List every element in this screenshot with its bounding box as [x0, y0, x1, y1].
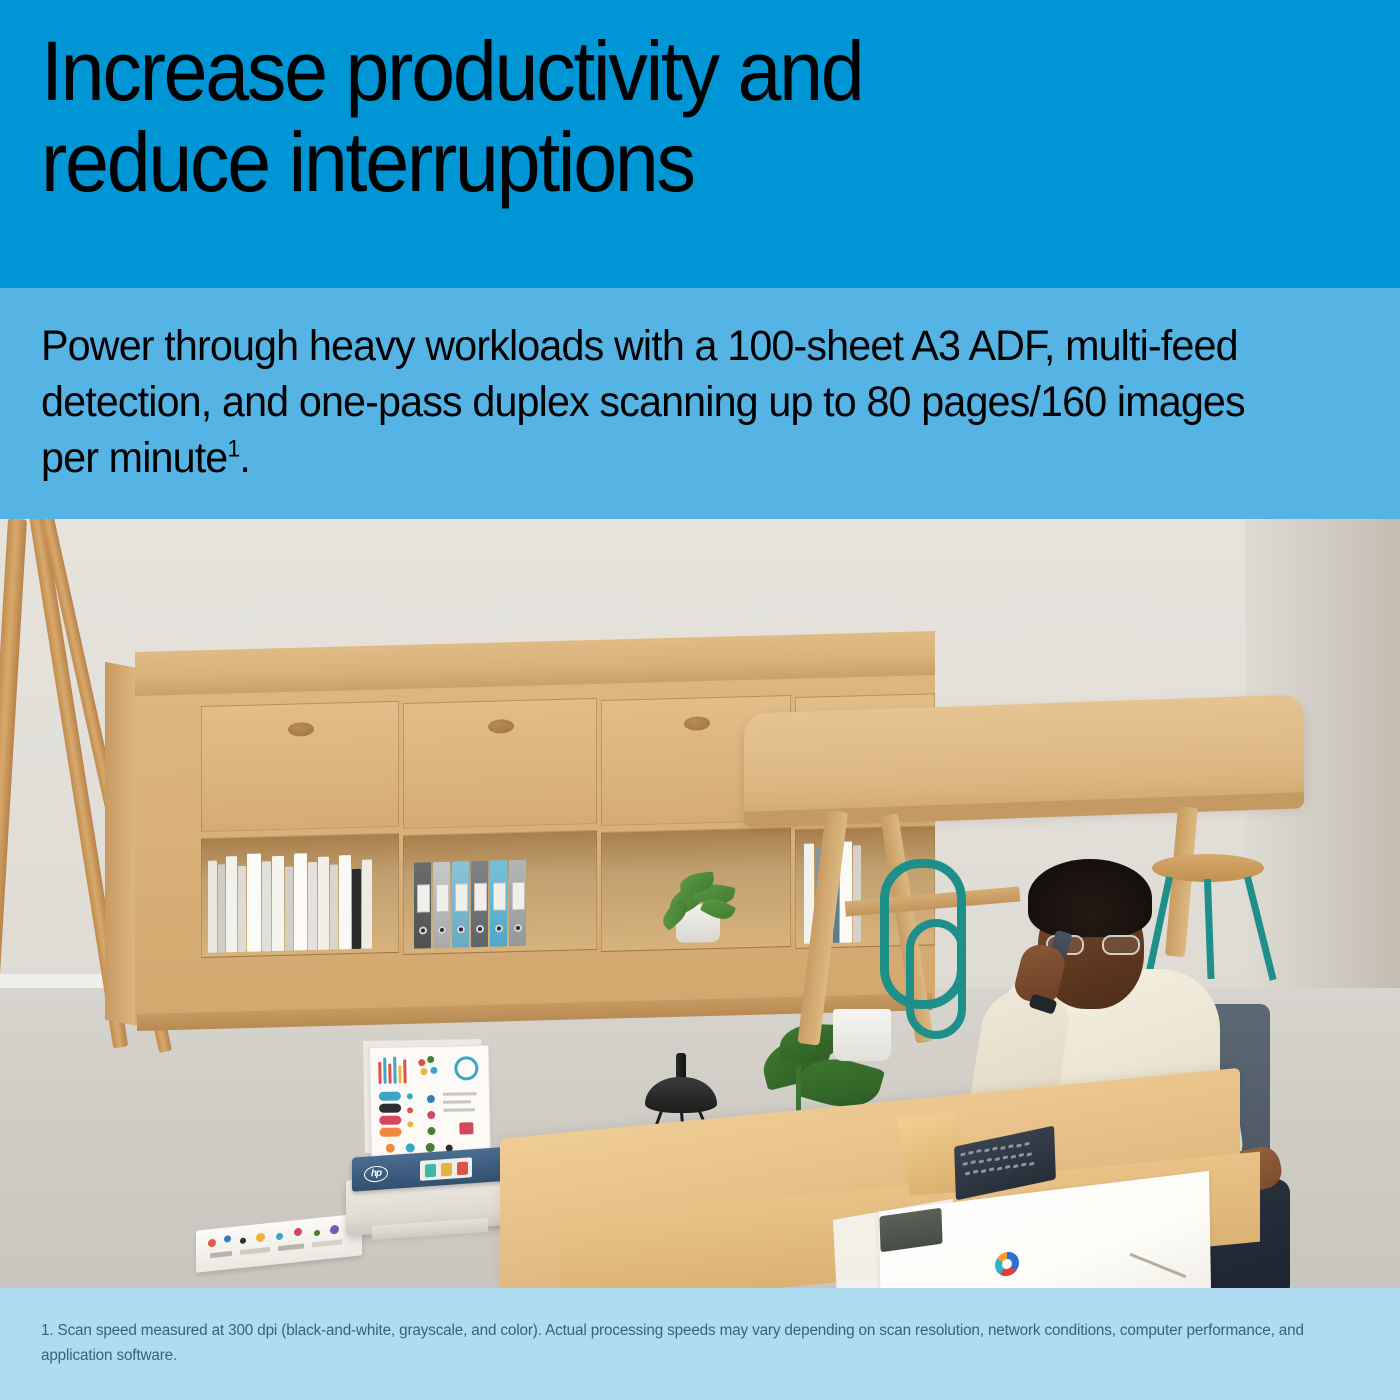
binder-ring-hole [438, 926, 446, 934]
credenza-drawer [201, 701, 399, 832]
book-spine-the-fashion [294, 853, 307, 950]
magazine-graphic [276, 1233, 283, 1241]
text-line [443, 1092, 477, 1096]
person-hair [1028, 859, 1152, 937]
page-title: Increase productivity and reduce interru… [41, 26, 1216, 207]
book-spine [272, 856, 284, 951]
headline-line-1: Increase productivity and [41, 26, 1216, 117]
chart-dot [430, 1067, 437, 1074]
magazine-graphic [278, 1243, 304, 1251]
book-spine [339, 855, 351, 949]
text-line [443, 1108, 475, 1112]
binder-ring-hole [419, 926, 427, 934]
text-line [443, 1100, 471, 1103]
pill-graphic [379, 1116, 401, 1125]
credenza-side-panel [105, 662, 137, 1026]
infographic-sheet [369, 1045, 491, 1165]
hero-photo: hp [0, 519, 1400, 1288]
binder-ring-hole [476, 925, 484, 933]
pill-graphic [379, 1104, 401, 1113]
credenza-cubby [201, 833, 399, 958]
chart-dot [427, 1127, 435, 1135]
chart-bar [393, 1057, 396, 1084]
book-spine [226, 856, 237, 952]
magazine-graphic [312, 1239, 342, 1247]
chart-dot [426, 1143, 435, 1152]
teal-chair-frame [906, 919, 966, 1039]
footer-band: 1. Scan speed measured at 300 dpi (black… [0, 1288, 1400, 1400]
book-spine [308, 862, 317, 950]
waste-bin [833, 1009, 891, 1061]
magazine-graphic [294, 1228, 302, 1237]
screen-tile-copy-icon[interactable] [441, 1162, 452, 1176]
magazine-graphic [256, 1232, 265, 1242]
ring-binder [414, 862, 431, 948]
ring-binder [509, 860, 526, 946]
screen-tile-email-icon[interactable] [457, 1161, 468, 1175]
magazine-graphic [208, 1239, 216, 1248]
book-spine [238, 866, 246, 952]
chart-bar [398, 1065, 401, 1083]
credenza-cubby [601, 827, 791, 952]
magazine-graphic [314, 1230, 320, 1237]
ring-binder [452, 861, 469, 947]
chart-dot [407, 1121, 413, 1127]
pill-graphic [379, 1128, 401, 1137]
subtitle-text: Power through heavy workloads with a 100… [41, 319, 1308, 487]
file-spine [853, 845, 861, 942]
book-spine [218, 864, 225, 952]
chart-bar [388, 1064, 391, 1084]
ring-binder [471, 861, 488, 947]
scanner-touchscreen[interactable] [420, 1157, 472, 1181]
magazine-graphic [224, 1235, 231, 1243]
footnote-text: 1. Scan speed measured at 300 dpi (black… [41, 1318, 1346, 1368]
chart-dot [406, 1143, 415, 1152]
credenza-cubby [403, 830, 597, 955]
chart-bar [403, 1059, 406, 1083]
book-spine [285, 867, 293, 951]
book-spine [318, 857, 329, 950]
screen-tile-scan-icon[interactable] [425, 1163, 436, 1177]
chart-bar [383, 1058, 386, 1084]
book-spine [208, 861, 217, 953]
binder-ring-hole [514, 924, 522, 932]
book-spine [262, 861, 271, 951]
drawer-knob [488, 719, 514, 734]
ring-binder [433, 862, 450, 948]
headline-line-2: reduce interruptions [41, 117, 1216, 208]
hp-logo-icon: hp [364, 1165, 388, 1183]
pill-graphic [379, 1092, 401, 1101]
magazine-graphic [240, 1247, 270, 1255]
chart-block [459, 1122, 473, 1134]
chart-dot [386, 1144, 395, 1153]
chart-dot [427, 1095, 435, 1103]
magazine-graphic [210, 1251, 232, 1258]
drawer-knob [288, 722, 314, 737]
book-spine [330, 864, 338, 949]
subtitle-body: Power through heavy workloads with a 100… [41, 322, 1245, 482]
chart-dot [407, 1093, 413, 1099]
footnote-marker: 1 [227, 435, 239, 462]
subtitle-period: . [239, 434, 250, 482]
donut-chart [454, 1056, 478, 1080]
magazine-graphic [240, 1237, 246, 1244]
chart-dot [427, 1056, 434, 1063]
book-spine [362, 860, 372, 949]
chart-dot [420, 1068, 427, 1075]
header-band: Increase productivity and reduce interru… [0, 0, 1400, 288]
lens-right [1102, 935, 1140, 955]
credenza-drawer [403, 698, 597, 829]
marketing-tile: Increase productivity and reduce interru… [0, 0, 1400, 1400]
book-spine-new-york [247, 853, 261, 951]
ring-binder [490, 860, 507, 946]
binder-ring-hole [495, 924, 503, 932]
book-spine [352, 869, 361, 949]
binder-ring-hole [457, 925, 465, 933]
drawer-knob [684, 716, 710, 731]
chart-dot [407, 1107, 413, 1113]
magazine-graphic [330, 1225, 339, 1235]
hp-document-scanner: hp [352, 1046, 522, 1236]
chart-bar [378, 1062, 381, 1084]
chart-dot [427, 1111, 435, 1119]
chart-dot [418, 1059, 425, 1066]
subtitle-band: Power through heavy workloads with a 100… [0, 288, 1400, 519]
